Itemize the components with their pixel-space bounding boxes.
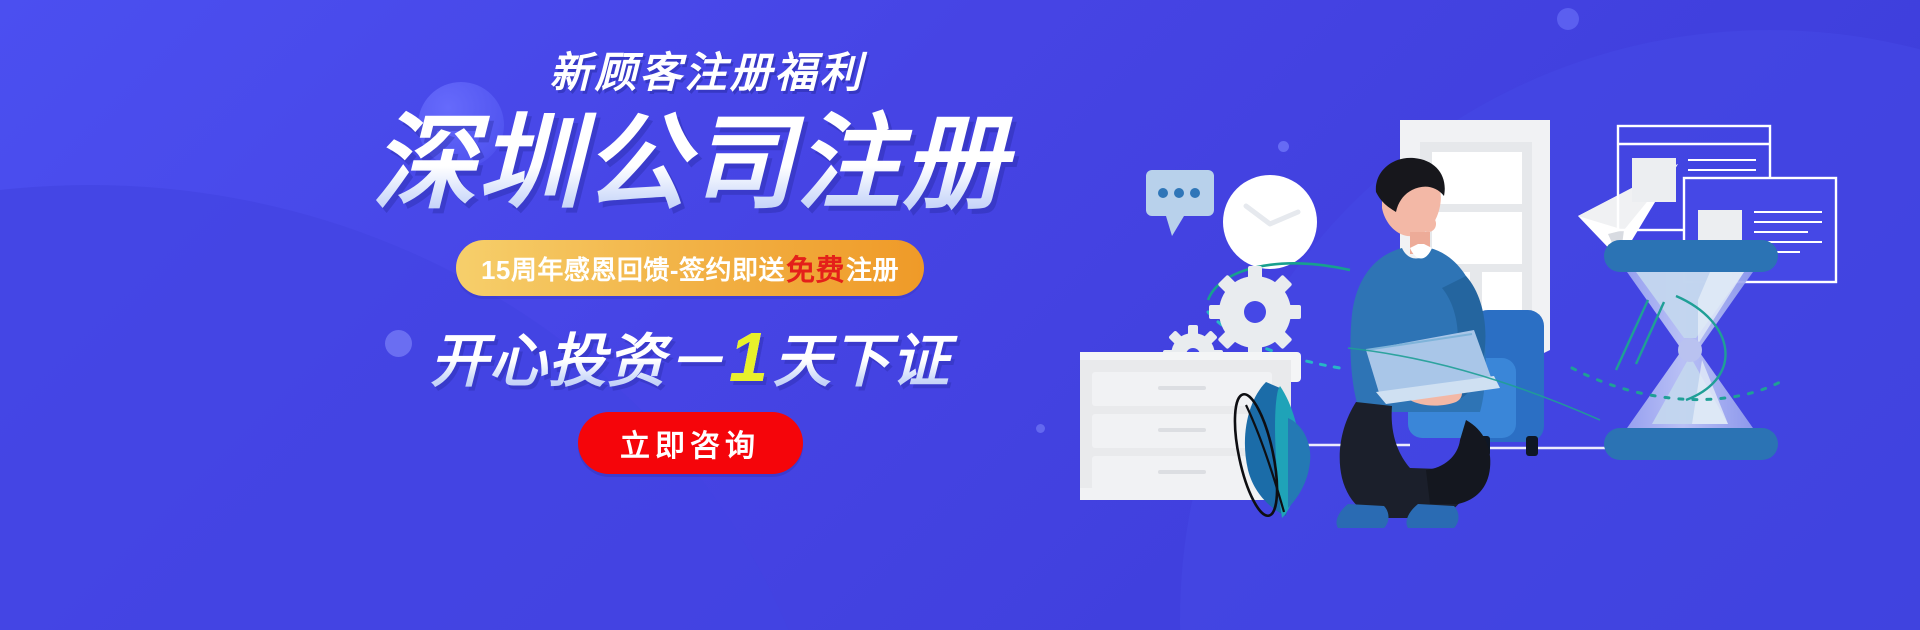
promo-highlight: 免费	[785, 247, 846, 289]
wall-clock-icon	[1223, 175, 1317, 269]
page-title: 深圳公司注册	[300, 108, 1080, 220]
promo-suffix: 注册	[846, 250, 899, 287]
subheadline: 开心投资－1天下证	[300, 322, 1080, 392]
subheadline-number: 1	[725, 318, 773, 396]
kicker-text: 新顾客注册福利	[334, 52, 1080, 94]
hourglass-icon	[1604, 240, 1778, 460]
speech-bubble-icon	[1146, 170, 1214, 236]
consult-now-button[interactable]: 立即咨询	[578, 412, 803, 474]
subheadline-before: 开心投资－	[430, 329, 725, 394]
banner-copy: 新顾客注册福利 深圳公司注册 15周年感恩回馈-签约即送免费注册 开心投资－1天…	[300, 52, 1080, 474]
office-illustration	[1080, 0, 1920, 630]
promo-prefix: 15周年感恩回馈-签约即送	[481, 250, 785, 287]
promo-badge: 15周年感恩回馈-签约即送免费注册	[456, 240, 924, 296]
subheadline-after: 天下证	[773, 329, 950, 394]
promo-banner: 新顾客注册福利 深圳公司注册 15周年感恩回馈-签约即送免费注册 开心投资－1天…	[0, 0, 1920, 630]
